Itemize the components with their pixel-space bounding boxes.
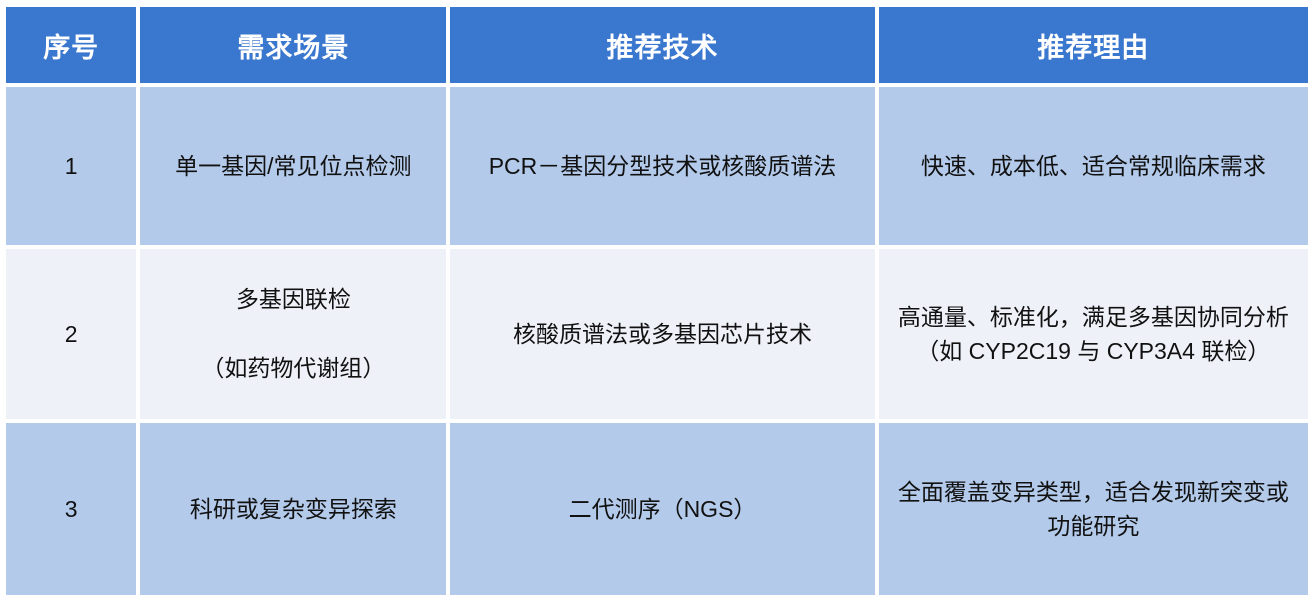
cell-tech-lines: 核酸质谱法或多基因芯片技术 xyxy=(464,317,860,352)
table-header: 序号 需求场景 推荐技术 推荐理由 xyxy=(6,7,1308,83)
cell-scene: 科研或复杂变异探索 xyxy=(140,423,446,595)
recommendation-table-container: 序号 需求场景 推荐技术 推荐理由 1 单一基因/常见位点检测 PCR－基因分型… xyxy=(0,0,1314,596)
cell-scene: 单一基因/常见位点检测 xyxy=(140,87,446,245)
cell-reason-lines: 高通量、标准化，满足多基因协同分析（如 CYP2C19 与 CYP3A4 联检） xyxy=(893,300,1294,369)
column-header-index: 序号 xyxy=(6,7,136,83)
cell-reason: 快速、成本低、适合常规临床需求 xyxy=(879,87,1308,245)
table-row: 1 单一基因/常见位点检测 PCR－基因分型技术或核酸质谱法 快速、成本低、适合… xyxy=(6,87,1308,245)
column-header-reason: 推荐理由 xyxy=(879,7,1308,83)
cell-tech: 二代测序（NGS） xyxy=(450,423,874,595)
cell-line: 多基因联检 xyxy=(154,282,432,317)
cell-tech: 核酸质谱法或多基因芯片技术 xyxy=(450,249,874,419)
cell-tech-lines: PCR－基因分型技术或核酸质谱法 xyxy=(464,149,860,184)
cell-reason: 高通量、标准化，满足多基因协同分析（如 CYP2C19 与 CYP3A4 联检） xyxy=(879,249,1308,419)
table-body: 1 单一基因/常见位点检测 PCR－基因分型技术或核酸质谱法 快速、成本低、适合… xyxy=(6,87,1308,595)
column-header-scene: 需求场景 xyxy=(140,7,446,83)
cell-line: 快速、成本低、适合常规临床需求 xyxy=(893,149,1294,184)
cell-scene-lines: 科研或复杂变异探索 xyxy=(154,492,432,527)
cell-reason-lines: 全面覆盖变异类型，适合发现新突变或功能研究 xyxy=(893,475,1294,544)
cell-line: （如药物代谢组） xyxy=(154,351,432,386)
cell-line: 核酸质谱法或多基因芯片技术 xyxy=(464,317,860,352)
cell-tech-lines: 二代测序（NGS） xyxy=(464,492,860,527)
cell-line: 全面覆盖变异类型，适合发现新突变或功能研究 xyxy=(893,475,1294,544)
cell-tech: PCR－基因分型技术或核酸质谱法 xyxy=(450,87,874,245)
table-header-row: 序号 需求场景 推荐技术 推荐理由 xyxy=(6,7,1308,83)
cell-line: 单一基因/常见位点检测 xyxy=(154,149,432,184)
cell-reason-lines: 快速、成本低、适合常规临床需求 xyxy=(893,149,1294,184)
column-header-tech: 推荐技术 xyxy=(450,7,874,83)
table-row: 2 多基因联检（如药物代谢组） 核酸质谱法或多基因芯片技术 高通量、标准化，满足… xyxy=(6,249,1308,419)
cell-index: 1 xyxy=(6,87,136,245)
recommendation-table: 序号 需求场景 推荐技术 推荐理由 1 单一基因/常见位点检测 PCR－基因分型… xyxy=(2,3,1312,599)
cell-index: 3 xyxy=(6,423,136,595)
cell-scene: 多基因联检（如药物代谢组） xyxy=(140,249,446,419)
cell-line: 高通量、标准化，满足多基因协同分析（如 CYP2C19 与 CYP3A4 联检） xyxy=(893,300,1294,369)
cell-line: 二代测序（NGS） xyxy=(464,492,860,527)
cell-line-spacer xyxy=(154,317,432,352)
cell-index: 2 xyxy=(6,249,136,419)
cell-scene-lines: 单一基因/常见位点检测 xyxy=(154,149,432,184)
table-row: 3 科研或复杂变异探索 二代测序（NGS） 全面覆盖变异类型，适合发现新突变或功… xyxy=(6,423,1308,595)
cell-reason: 全面覆盖变异类型，适合发现新突变或功能研究 xyxy=(879,423,1308,595)
cell-scene-lines: 多基因联检（如药物代谢组） xyxy=(154,282,432,386)
cell-line: PCR－基因分型技术或核酸质谱法 xyxy=(464,149,860,184)
cell-line: 科研或复杂变异探索 xyxy=(154,492,432,527)
